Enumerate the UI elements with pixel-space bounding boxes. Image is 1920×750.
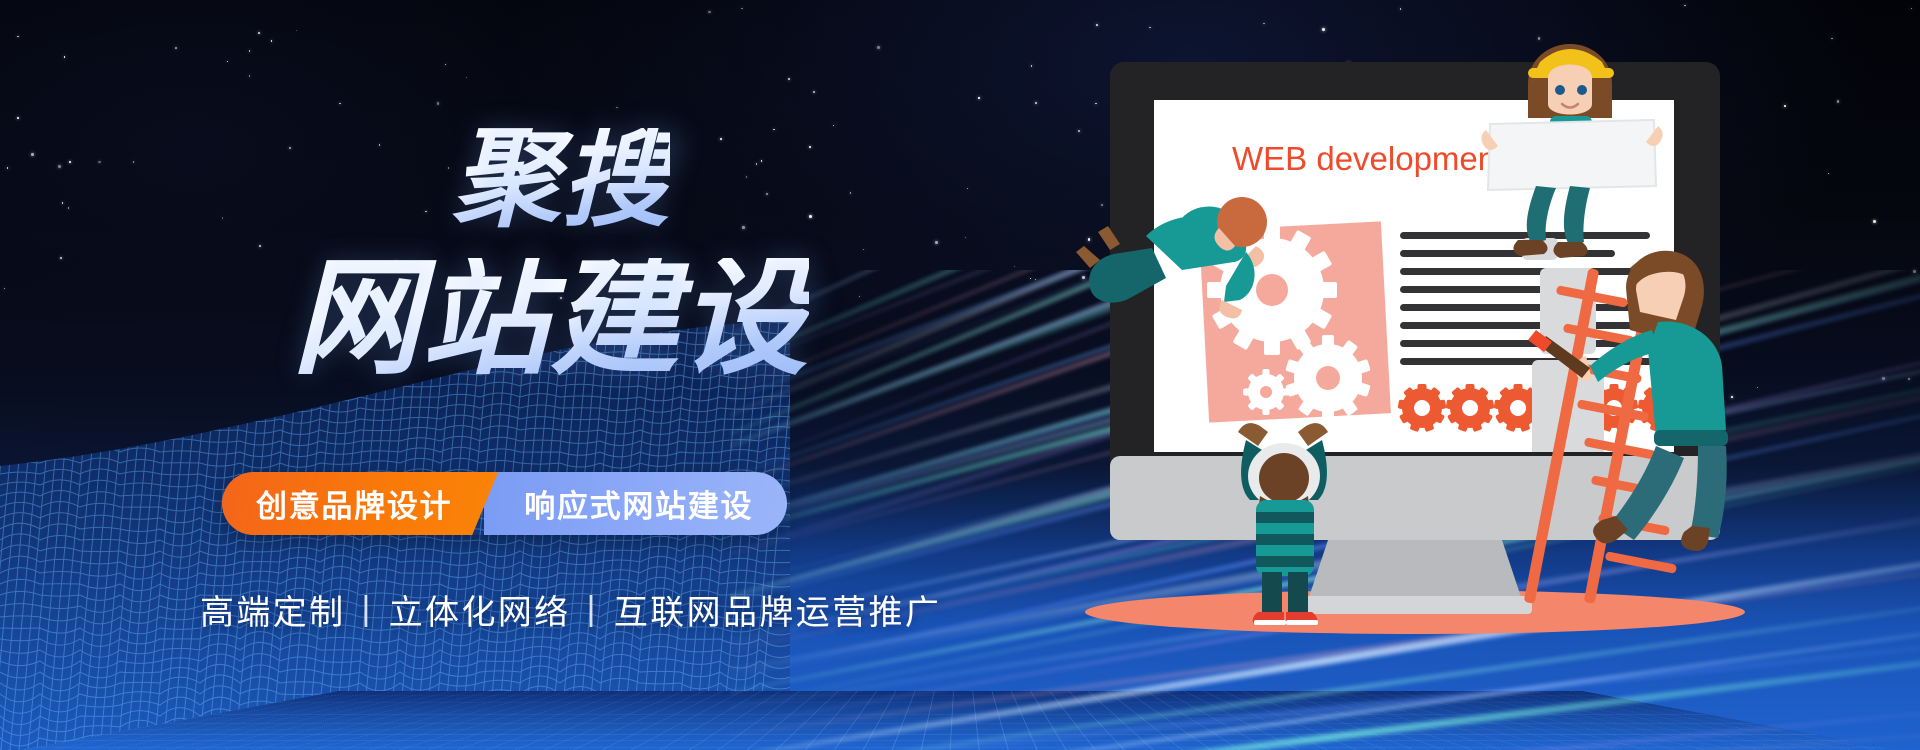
gear-large-hub [1256,274,1288,306]
monitor-stand-base [1298,596,1532,614]
tagline-part-3: 互联网品牌运营推广 [614,585,941,634]
tagline-part-2: 立体化网络 [389,585,571,634]
web-development-illustration: WEB development [1070,0,1920,750]
brand-title-line-2: 网站建设 [292,258,809,380]
hero-banner: 聚搜 网站建设 创意品牌设计 响应式网站建设 高端定制 | 立体化网络 | 互联… [0,0,1920,750]
tagline-separator-1: | [362,590,373,629]
service-pill-group: 创意品牌设计 响应式网站建设 [222,472,787,535]
pill-responsive-web-build[interactable]: 响应式网站建设 [484,472,787,535]
brand-title-line-1: 聚搜 [452,128,670,231]
tagline-part-1: 高端定制 [200,585,346,634]
headline-block: 聚搜 网站建设 创意品牌设计 响应式网站建设 高端定制 | 立体化网络 | 互联… [0,0,1060,750]
tagline: 高端定制 | 立体化网络 | 互联网品牌运营推广 [200,585,941,634]
pill-creative-brand-design[interactable]: 创意品牌设计 [222,472,498,535]
monitor-stand-neck [1308,540,1522,600]
gear-medium-hub [1316,366,1340,390]
tagline-separator-2: | [587,590,598,629]
gear-small-hub [1260,386,1272,398]
screen-heading-text: WEB development [1232,140,1505,177]
